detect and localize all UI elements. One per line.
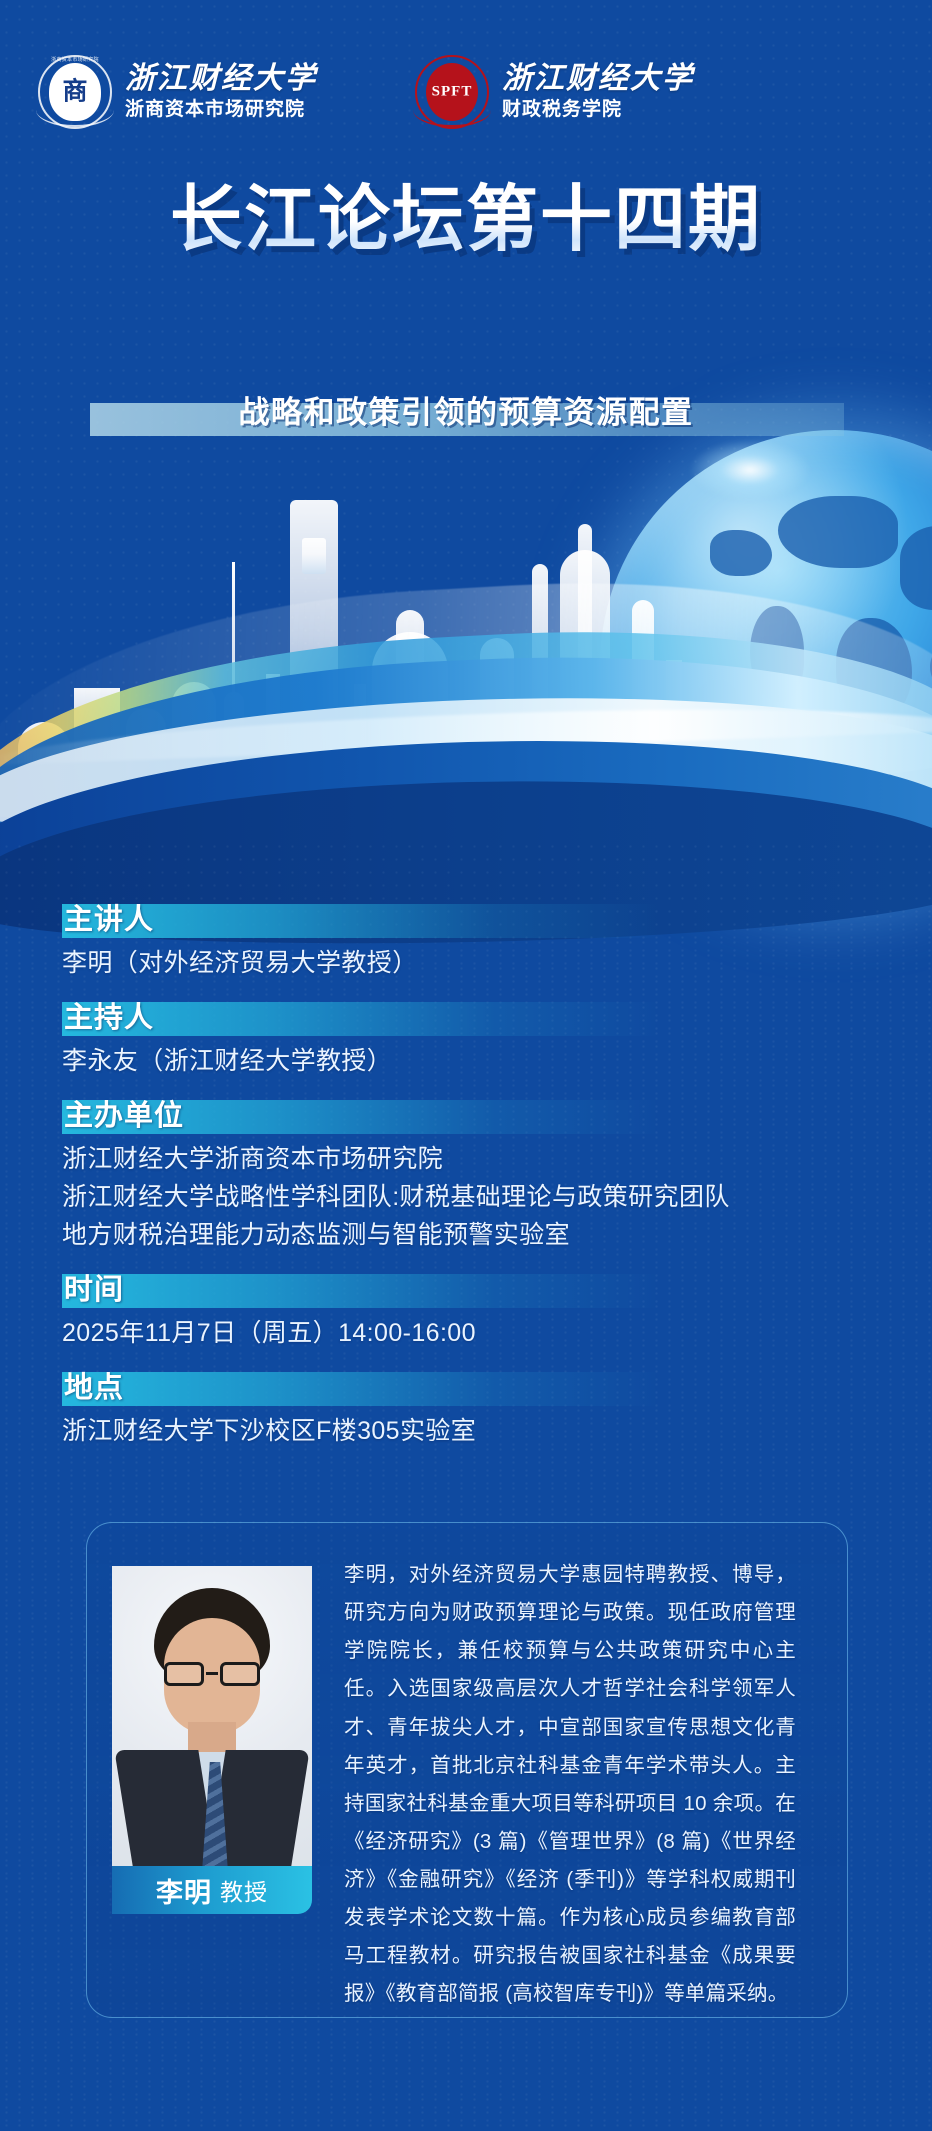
section-heading: 主讲人 [62,900,882,940]
section-line: 李永友（浙江财经大学教授） [62,1042,882,1080]
logo-school-of-public-finance-taxation: SPFT 浙江财经大学 财政税务学院 [415,55,694,129]
logo-university-name: 浙江财经大学 [125,62,317,95]
section-line: 浙江财经大学下沙校区F楼305实验室 [62,1412,882,1450]
crest-motto-text: 浙商资本市场研究院 [38,56,112,63]
speaker-title: 教授 [220,1873,268,1907]
logo-unit-name: 财政税务学院 [502,97,694,123]
speaker-bio: 李明，对外经济贸易大学惠园特聘教授、博导，研究方向为财政预算理论与政策。现任政府… [344,1556,796,2014]
university-crest-icon: 浙商资本市场研究院 商 [38,55,112,129]
event-poster: 浙商资本市场研究院 商 浙江财经大学 浙商资本市场研究院 SPFT 浙江财经大学… [0,0,932,2131]
crest-mark-text: SPFT [432,85,473,100]
poster-title: 长江论坛第十四期 [0,175,932,265]
section-heading: 地点 [62,1368,882,1408]
speaker-photo [112,1566,312,1866]
section-heading: 主办单位 [62,1096,882,1136]
section-body: 浙江财经大学下沙校区F楼305实验室 [62,1412,882,1450]
poster-header: 浙商资本市场研究院 商 浙江财经大学 浙商资本市场研究院 SPFT 浙江财经大学… [0,42,932,142]
logo-university-name: 浙江财经大学 [502,62,694,95]
section-organizer: 主办单位 浙江财经大学浙商资本市场研究院 浙江财经大学战略性学科团队:财税基础理… [62,1096,882,1254]
section-venue: 地点 浙江财经大学下沙校区F楼305实验室 [62,1368,882,1450]
section-heading: 时间 [62,1270,882,1310]
section-body: 李永友（浙江财经大学教授） [62,1042,882,1080]
poster-subtitle-container: 战略和政策引领的预算资源配置 [0,392,932,436]
speaker-name: 李明 [156,1871,212,1910]
crest-mark-text: 商 [62,80,87,105]
section-heading-label: 时间 [62,1270,882,1310]
section-speaker: 主讲人 李明（对外经济贸易大学教授） [62,900,882,982]
section-body: 2025年11月7日（周五）14:00-16:00 [62,1314,882,1352]
section-line: 2025年11月7日（周五）14:00-16:00 [62,1314,882,1352]
section-line: 浙江财经大学浙商资本市场研究院 [62,1140,882,1178]
poster-subtitle: 战略和政策引领的预算资源配置 [0,392,932,434]
logo-zufe-capital-market-institute: 浙商资本市场研究院 商 浙江财经大学 浙商资本市场研究院 [38,55,317,129]
speaker-bio-text: 李明，对外经济贸易大学惠园特聘教授、博导，研究方向为财政预算理论与政策。现任政府… [344,1563,796,2005]
section-heading-label: 主办单位 [62,1096,882,1136]
event-info-list: 主讲人 李明（对外经济贸易大学教授） 主持人 李永友（浙江财经大学教授） 主办单… [62,900,882,1466]
section-line: 李明（对外经济贸易大学教授） [62,944,882,982]
speaker-nameplate: 李明 教授 [112,1866,312,1914]
logo-unit-name: 浙商资本市场研究院 [125,97,317,123]
section-line: 浙江财经大学战略性学科团队:财税基础理论与政策研究团队 [62,1178,882,1216]
section-host: 主持人 李永友（浙江财经大学教授） [62,998,882,1080]
section-heading-label: 主持人 [62,998,882,1038]
section-time: 时间 2025年11月7日（周五）14:00-16:00 [62,1270,882,1352]
glasses-icon [162,1662,262,1688]
section-line: 地方财税治理能力动态监测与智能预警实验室 [62,1216,882,1254]
section-heading: 主持人 [62,998,882,1038]
school-crest-icon: SPFT [415,55,489,129]
section-body: 浙江财经大学浙商资本市场研究院 浙江财经大学战略性学科团队:财税基础理论与政策研… [62,1140,882,1254]
section-heading-label: 主讲人 [62,900,882,940]
section-body: 李明（对外经济贸易大学教授） [62,944,882,982]
section-heading-label: 地点 [62,1368,882,1408]
